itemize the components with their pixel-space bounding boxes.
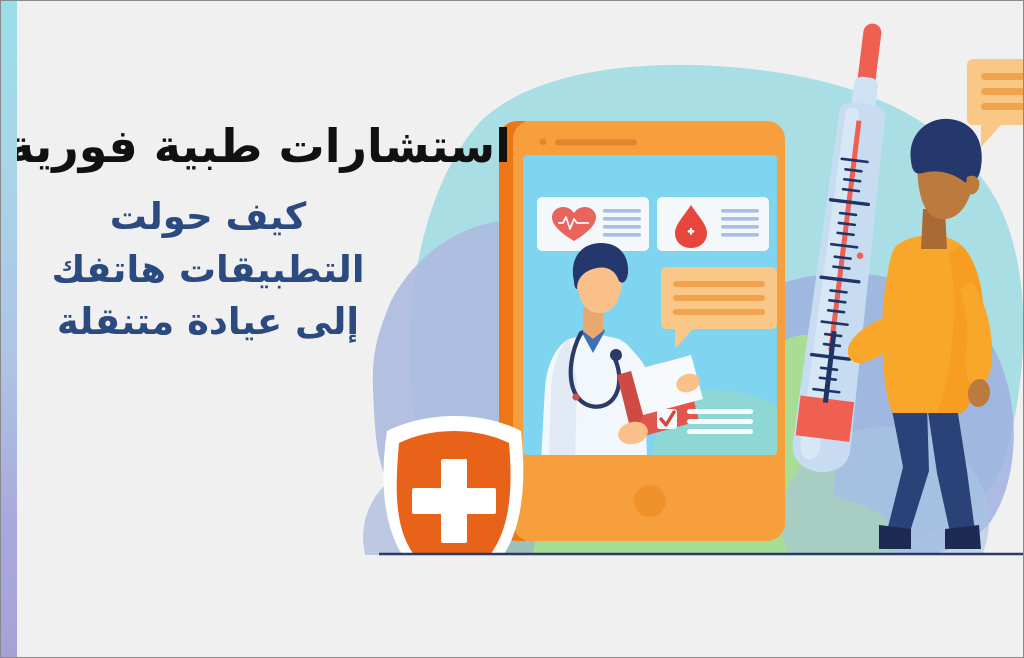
person-shoe-back (879, 525, 911, 549)
phone-speaker (555, 139, 637, 145)
subtitle-line-3: إلى عيادة متنقلة (35, 296, 381, 349)
text-block: استشارات طبية فورية كيف حولت التطبيقات ه… (1, 119, 531, 349)
subtitle-line-1: كيف حولت (35, 191, 381, 244)
phone-home-button (634, 485, 666, 517)
bubble-line (981, 73, 1024, 80)
subtitle: كيف حولت التطبيقات هاتفك إلى عيادة متنقل… (1, 191, 531, 349)
stethoscope-chestpiece (610, 349, 622, 361)
subtitle-line-2: التطبيقات هاتفك (35, 244, 381, 297)
blood-drop-card (657, 197, 769, 251)
chat-bubble-right (967, 59, 1024, 147)
banner-root: استشارات طبية فورية كيف حولت التطبيقات ه… (0, 0, 1024, 658)
bubble-line (673, 295, 765, 301)
smartphone (499, 121, 791, 541)
phone-camera-dot (540, 139, 547, 146)
bubble-line (981, 88, 1024, 95)
page-title: استشارات طبية فورية (1, 119, 531, 173)
left-gradient-bar (1, 1, 17, 657)
bubble-line (673, 281, 765, 287)
bubble-line (673, 309, 765, 315)
person-shoe-front (945, 525, 981, 549)
shield-cross-icon (383, 416, 523, 599)
heart-rate-card (537, 197, 649, 251)
bubble-line (981, 103, 1024, 110)
